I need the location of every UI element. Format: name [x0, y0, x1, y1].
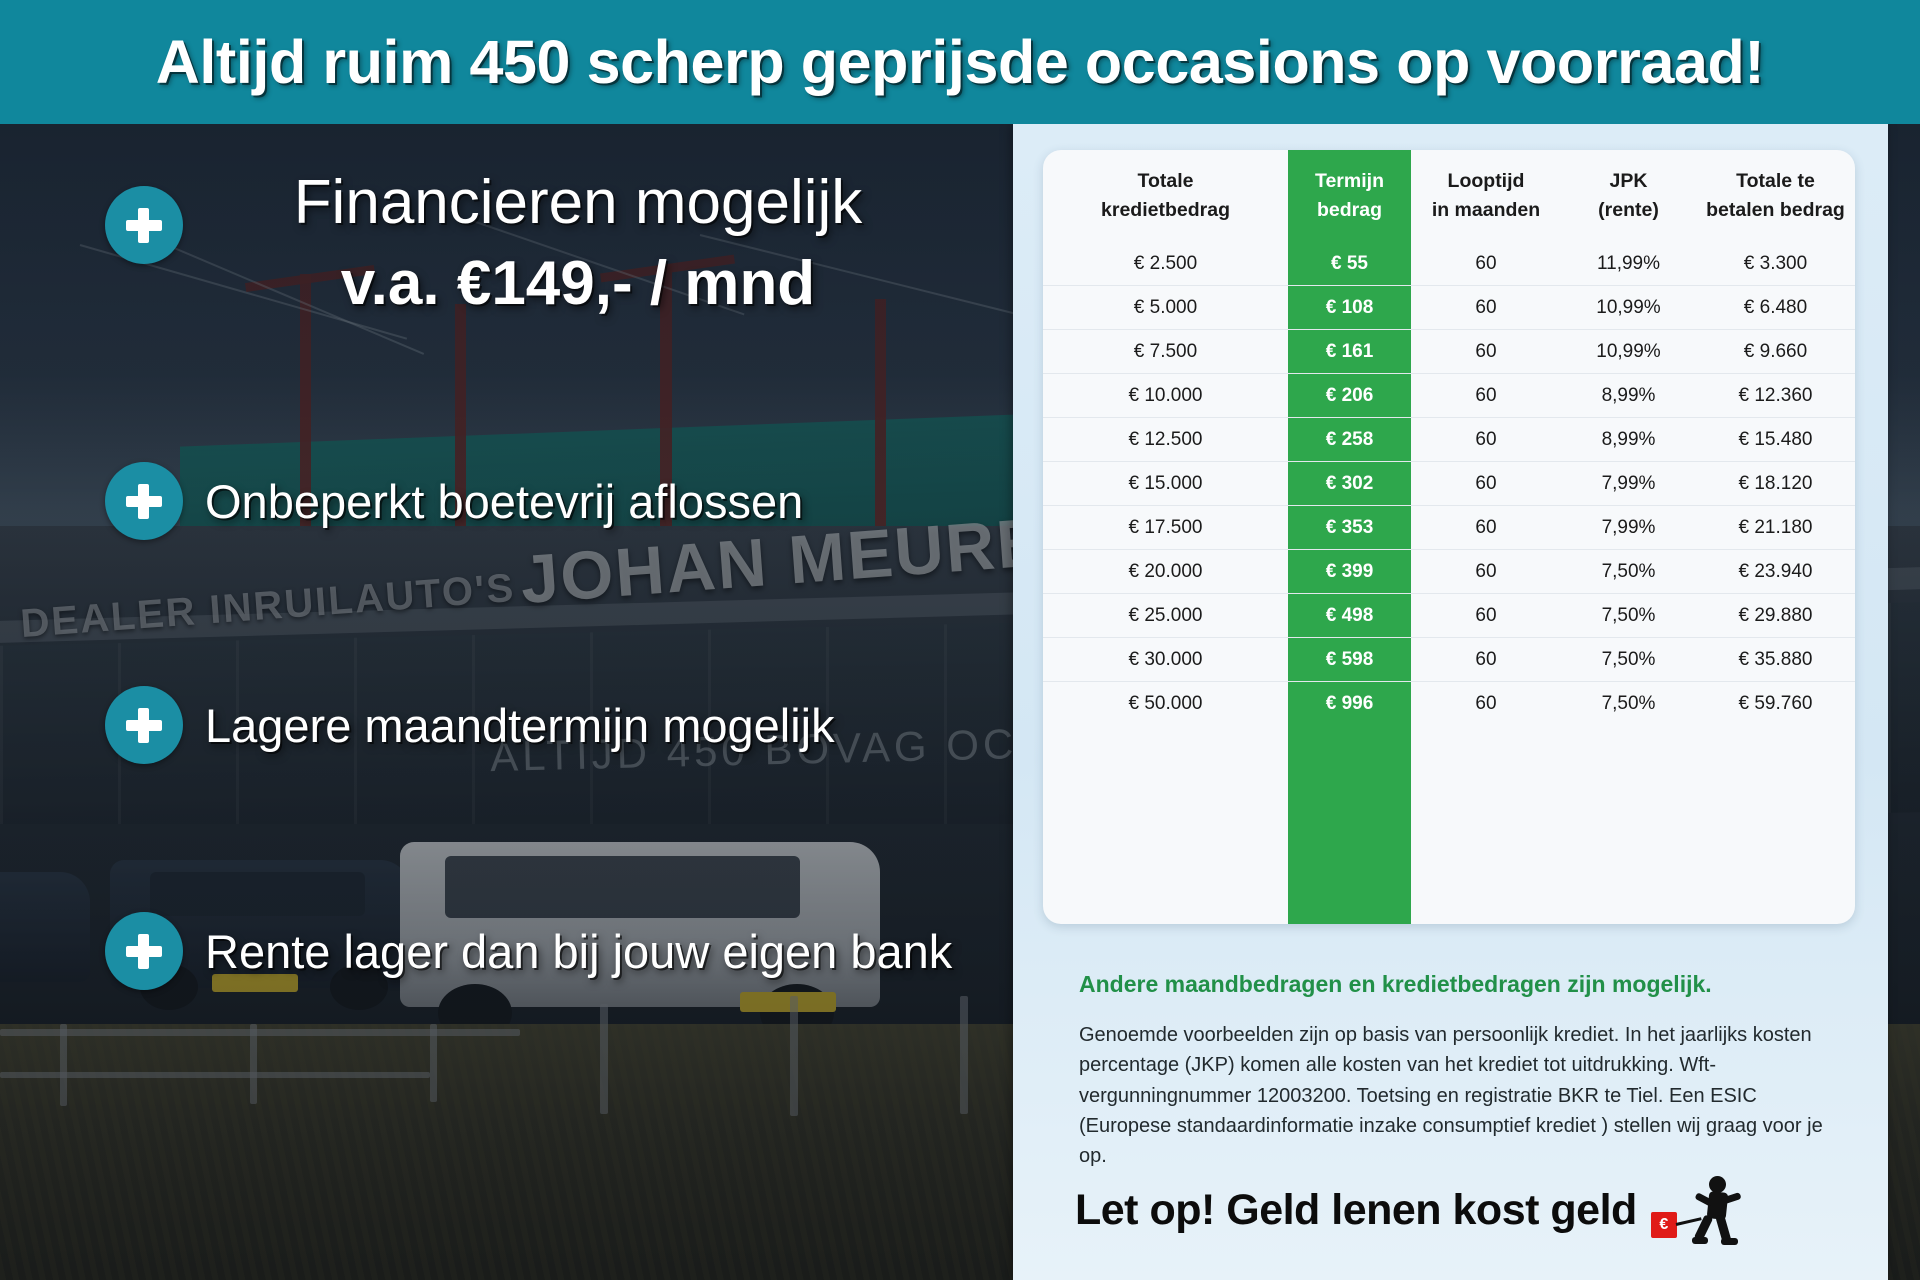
header-line-1: Looptijd	[1448, 170, 1525, 192]
cell-totaal: € 3.300	[1696, 242, 1855, 286]
cell-totaal: € 12.360	[1696, 374, 1855, 418]
cell-jpk: 8,99%	[1561, 374, 1696, 418]
plus-icon	[105, 686, 183, 764]
table-row: € 17.500€ 353607,99%€ 21.180	[1043, 506, 1855, 550]
cell-termijnbedrag: € 302	[1288, 462, 1411, 506]
table-row: € 10.000€ 206608,99%€ 12.360	[1043, 374, 1855, 418]
cell-looptijd: 60	[1411, 330, 1561, 374]
cell-looptijd: 60	[1411, 418, 1561, 462]
plus-icon	[105, 186, 183, 264]
cell-kredietbedrag: € 12.500	[1043, 418, 1288, 462]
cell-looptijd: 60	[1411, 638, 1561, 682]
cell-looptijd: 60	[1411, 242, 1561, 286]
header-line-2: kredietbedrag	[1101, 199, 1230, 221]
rates-table: Totale kredietbedrag Termijn bedrag Loop…	[1043, 150, 1855, 725]
table-row: € 15.000€ 302607,99%€ 18.120	[1043, 462, 1855, 506]
cell-jpk: 7,50%	[1561, 638, 1696, 682]
cell-jpk: 10,99%	[1561, 330, 1696, 374]
benefit-3: Rente lager dan bij jouw eigen bank	[205, 924, 952, 979]
main-headline: Financieren mogelijk v.a. €149,- / mnd	[178, 166, 978, 320]
table-row: € 5.000€ 1086010,99%€ 6.480	[1043, 286, 1855, 330]
table-row: € 20.000€ 399607,50%€ 23.940	[1043, 550, 1855, 594]
cell-totaal: € 18.120	[1696, 462, 1855, 506]
cell-termijnbedrag: € 206	[1288, 374, 1411, 418]
cell-kredietbedrag: € 15.000	[1043, 462, 1288, 506]
header-line-1: Totale	[1138, 170, 1194, 192]
header-line-1: Termijn	[1315, 170, 1384, 192]
cell-termijnbedrag: € 498	[1288, 594, 1411, 638]
cell-termijnbedrag: € 258	[1288, 418, 1411, 462]
cell-jpk: 7,99%	[1561, 462, 1696, 506]
cell-totaal: € 15.480	[1696, 418, 1855, 462]
table-row: € 25.000€ 498607,50%€ 29.880	[1043, 594, 1855, 638]
plus-icon	[105, 912, 183, 990]
benefit-1: Onbeperkt boetevrij aflossen	[205, 474, 803, 529]
cell-kredietbedrag: € 50.000	[1043, 682, 1288, 726]
cell-jpk: 8,99%	[1561, 418, 1696, 462]
header-line-1: JPK	[1610, 170, 1648, 192]
cell-looptijd: 60	[1411, 286, 1561, 330]
plus-icon	[105, 462, 183, 540]
column-header-totale-te-betalen: Totale te betalen bedrag	[1696, 150, 1855, 242]
cell-termijnbedrag: € 353	[1288, 506, 1411, 550]
top-banner: Altijd ruim 450 scherp geprijsde occasio…	[0, 0, 1920, 124]
cell-jpk: 7,99%	[1561, 506, 1696, 550]
afm-foot-back	[1692, 1237, 1708, 1244]
cell-kredietbedrag: € 20.000	[1043, 550, 1288, 594]
column-header-looptijd: Looptijd in maanden	[1411, 150, 1561, 242]
cell-looptijd: 60	[1411, 374, 1561, 418]
cell-looptijd: 60	[1411, 506, 1561, 550]
afm-walking-man-icon: €	[1651, 1174, 1755, 1246]
promo-poster: Altijd ruim 450 scherp geprijsde occasio…	[0, 0, 1920, 1280]
cell-kredietbedrag: € 7.500	[1043, 330, 1288, 374]
cell-termijnbedrag: € 598	[1288, 638, 1411, 682]
cell-termijnbedrag: € 108	[1288, 286, 1411, 330]
loan-warning: Let op! Geld lenen kost geld €	[1075, 1174, 1865, 1246]
loan-warning-text: Let op! Geld lenen kost geld	[1075, 1186, 1637, 1235]
afm-foot-front	[1721, 1238, 1738, 1245]
cell-looptijd: 60	[1411, 594, 1561, 638]
table-row: € 7.500€ 1616010,99%€ 9.660	[1043, 330, 1855, 374]
disclaimer-heading: Andere maandbedragen en kredietbedragen …	[1079, 970, 1839, 1000]
column-header-totale-kredietbedrag: Totale kredietbedrag	[1043, 150, 1288, 242]
table-row: € 30.000€ 598607,50%€ 35.880	[1043, 638, 1855, 682]
cell-jpk: 7,50%	[1561, 682, 1696, 726]
cell-totaal: € 29.880	[1696, 594, 1855, 638]
header-line-1: Totale te	[1736, 170, 1815, 192]
afm-red-block: €	[1651, 1212, 1677, 1238]
table-header-row: Totale kredietbedrag Termijn bedrag Loop…	[1043, 150, 1855, 242]
afm-rope	[1675, 1217, 1701, 1226]
cell-totaal: € 21.180	[1696, 506, 1855, 550]
headline-line-1: Financieren mogelijk	[294, 168, 863, 237]
cell-termijnbedrag: € 399	[1288, 550, 1411, 594]
cell-totaal: € 6.480	[1696, 286, 1855, 330]
cell-jpk: 11,99%	[1561, 242, 1696, 286]
cell-kredietbedrag: € 2.500	[1043, 242, 1288, 286]
cell-termijnbedrag: € 55	[1288, 242, 1411, 286]
cell-termijnbedrag: € 996	[1288, 682, 1411, 726]
cell-totaal: € 9.660	[1696, 330, 1855, 374]
header-line-2: in maanden	[1432, 199, 1540, 221]
benefit-2: Lagere maandtermijn mogelijk	[205, 698, 835, 753]
cell-kredietbedrag: € 25.000	[1043, 594, 1288, 638]
cell-kredietbedrag: € 10.000	[1043, 374, 1288, 418]
table-row: € 12.500€ 258608,99%€ 15.480	[1043, 418, 1855, 462]
cell-totaal: € 35.880	[1696, 638, 1855, 682]
disclaimer-block: Andere maandbedragen en kredietbedragen …	[1079, 970, 1839, 1172]
top-banner-headline: Altijd ruim 450 scherp geprijsde occasio…	[156, 27, 1765, 97]
table-row: € 2.500€ 556011,99%€ 3.300	[1043, 242, 1855, 286]
left-content: Financieren mogelijk v.a. €149,- / mnd O…	[0, 124, 1020, 1280]
header-line-2: (rente)	[1598, 199, 1659, 221]
cell-totaal: € 23.940	[1696, 550, 1855, 594]
cell-looptijd: 60	[1411, 462, 1561, 506]
rates-table-card: Totale kredietbedrag Termijn bedrag Loop…	[1043, 150, 1855, 924]
cell-looptijd: 60	[1411, 682, 1561, 726]
column-header-termijn-bedrag: Termijn bedrag	[1288, 150, 1411, 242]
cell-totaal: € 59.760	[1696, 682, 1855, 726]
column-header-jpk: JPK (rente)	[1561, 150, 1696, 242]
header-line-2: bedrag	[1317, 199, 1382, 221]
cell-jpk: 10,99%	[1561, 286, 1696, 330]
finance-panel: Totale kredietbedrag Termijn bedrag Loop…	[1013, 124, 1888, 1280]
rates-table-head: Totale kredietbedrag Termijn bedrag Loop…	[1043, 150, 1855, 242]
cell-jpk: 7,50%	[1561, 594, 1696, 638]
cell-termijnbedrag: € 161	[1288, 330, 1411, 374]
cell-kredietbedrag: € 17.500	[1043, 506, 1288, 550]
disclaimer-body: Genoemde voorbeelden zijn op basis van p…	[1079, 1020, 1839, 1172]
cell-kredietbedrag: € 5.000	[1043, 286, 1288, 330]
table-row: € 50.000€ 996607,50%€ 59.760	[1043, 682, 1855, 726]
rates-table-body: € 2.500€ 556011,99%€ 3.300€ 5.000€ 10860…	[1043, 242, 1855, 725]
cell-looptijd: 60	[1411, 550, 1561, 594]
cell-kredietbedrag: € 30.000	[1043, 638, 1288, 682]
headline-line-2: v.a. €149,- / mnd	[178, 247, 978, 320]
header-line-2: betalen bedrag	[1706, 199, 1845, 221]
cell-jpk: 7,50%	[1561, 550, 1696, 594]
